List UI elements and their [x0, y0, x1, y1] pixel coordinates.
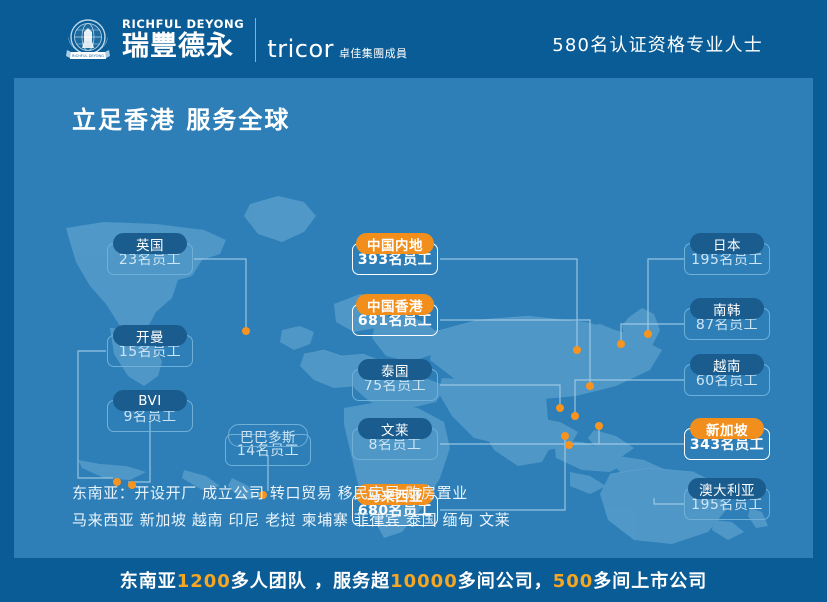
- location-card-13[interactable]: 195名员工澳大利亚: [684, 478, 770, 520]
- svg-text:RICHFUL DEYONG: RICHFUL DEYONG: [72, 54, 104, 58]
- services-line-2: 马来西亚 新加坡 越南 印尼 老挝 柬埔寨 菲律宾 泰国 缅甸 文莱: [72, 507, 510, 534]
- location-card-3[interactable]: 14名员工巴巴多斯: [225, 424, 311, 466]
- location-name-pill: BVI: [113, 390, 187, 411]
- location-card-10[interactable]: 87名员工南韩: [684, 298, 770, 340]
- location-name-pill: 中国香港: [356, 294, 434, 315]
- location-name-pill: 南韩: [690, 298, 764, 319]
- location-name-pill: 新加坡: [690, 418, 764, 439]
- brand-logo[interactable]: RICHFUL DEYONG RICHFUL DEYONG 瑞豐德永 trico…: [62, 16, 407, 64]
- location-name-pill: 泰国: [358, 359, 432, 380]
- partner-logo-tricor: tricor: [267, 36, 334, 62]
- dot-japan: [644, 330, 652, 338]
- location-card-2[interactable]: 9名员工BVI: [107, 390, 193, 432]
- logo-english-name: RICHFUL DEYONG: [122, 18, 244, 31]
- dot-singapore: [565, 441, 573, 449]
- location-card-1[interactable]: 15名员工开曼: [107, 325, 193, 367]
- dot-uk: [242, 327, 250, 335]
- location-card-6[interactable]: 75名员工泰国: [352, 359, 438, 401]
- services-notes: 东南亚：开设开厂 成立公司 转口贸易 移民定居 购房置业 马来西亚 新加坡 越南…: [72, 480, 510, 534]
- location-name-pill: 巴巴多斯: [228, 424, 308, 447]
- dot-vietnam: [571, 412, 579, 420]
- dot-brunei: [595, 422, 603, 430]
- location-name-pill: 文莱: [358, 418, 432, 439]
- location-card-4[interactable]: 393名员工中国内地: [352, 233, 438, 275]
- location-name-pill: 开曼: [113, 325, 187, 346]
- shield-crest-icon: RICHFUL DEYONG: [62, 16, 114, 64]
- services-line-1: 东南亚：开设开厂 成立公司 转口贸易 移民定居 购房置业: [72, 480, 510, 507]
- dot-thailand: [556, 404, 564, 412]
- dot-hongkong: [586, 382, 594, 390]
- page-title: 立足香港 服务全球: [72, 100, 290, 135]
- location-card-11[interactable]: 60名员工越南: [684, 354, 770, 396]
- page-footer: 东南亚1200多人团队 ，服务超10000多间公司，500多间上市公司: [0, 558, 827, 602]
- location-name-pill: 中国内地: [356, 233, 434, 254]
- location-card-5[interactable]: 681名员工中国香港: [352, 294, 438, 336]
- header-tagline: 580名认证资格专业人士: [552, 31, 763, 57]
- dot-korea: [617, 340, 625, 348]
- location-name-pill: 澳大利亚: [688, 478, 766, 499]
- location-card-12[interactable]: 343名员工新加坡: [684, 418, 770, 460]
- world-map-panel: 23名员工英国15名员工开曼9名员工BVI14名员工巴巴多斯393名员工中国内地…: [14, 78, 813, 558]
- location-card-9[interactable]: 195名员工日本: [684, 233, 770, 275]
- footer-summary: 东南亚1200多人团队 ，服务超10000多间公司，500多间上市公司: [120, 567, 708, 593]
- partner-logo-subtitle: 卓佳集團成員: [339, 47, 407, 61]
- location-name-pill: 越南: [690, 354, 764, 375]
- page-header: RICHFUL DEYONG RICHFUL DEYONG 瑞豐德永 trico…: [0, 0, 827, 78]
- location-card-7[interactable]: 8名员工文莱: [352, 418, 438, 460]
- location-name-pill: 英国: [113, 233, 187, 254]
- location-card-0[interactable]: 23名员工英国: [107, 233, 193, 275]
- dot-malaysia: [561, 432, 569, 440]
- dot-china: [573, 346, 581, 354]
- logo-divider: [255, 18, 256, 62]
- logo-chinese-name: 瑞豐德永: [122, 32, 244, 62]
- location-name-pill: 日本: [690, 233, 764, 254]
